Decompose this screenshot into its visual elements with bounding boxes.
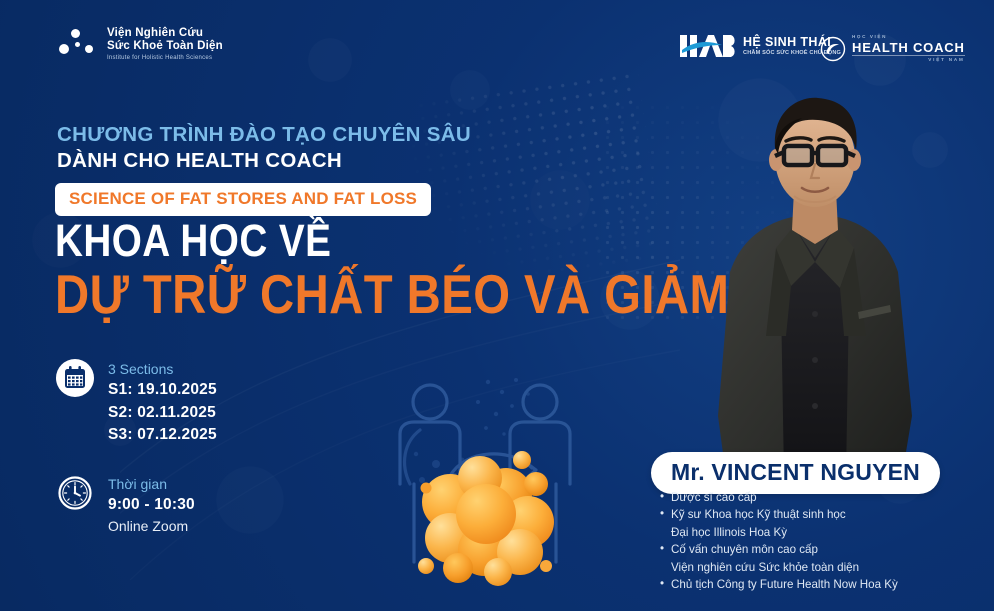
event-details: 3 Sections S1: 19.10.2025 S2: 02.11.2025… xyxy=(55,358,217,563)
kicker-line-1: CHƯƠNG TRÌNH ĐÀO TẠO CHUYÊN SÂU xyxy=(57,122,471,148)
fat-cell-cluster-graphic xyxy=(410,440,570,590)
health-coach-subtitle: VIỆT NAM xyxy=(852,55,965,62)
health-coach-pretitle: HỌC VIỆN xyxy=(852,35,965,40)
english-subtitle-badge: SCIENCE OF FAT STORES AND FAT LOSS xyxy=(55,183,431,216)
page-title: KHOA HỌC VỀ DỰ TRỮ CHẤT BÉO VÀ GIẢM MỠ xyxy=(55,219,695,322)
institute-line2: Sức Khoẻ Toàn Diện xyxy=(107,40,223,53)
health-coach-circle-icon xyxy=(820,36,846,62)
list-item: Dược sĩ cao cấp xyxy=(660,489,960,506)
credentials-list: Dược sĩ cao cấp Kỹ sư Khoa học Kỹ thuật … xyxy=(660,489,960,593)
list-item: Chủ tịch Công ty Future Health Now Hoa K… xyxy=(660,576,960,593)
list-item: Cố vấn chuyên môn cao cấp xyxy=(660,541,960,558)
badge-label: SCIENCE OF FAT STORES AND FAT LOSS xyxy=(69,189,417,208)
speaker-name: Mr. VINCENT NGUYEN xyxy=(671,459,920,485)
list-item: Đại học Illinois Hoa Kỳ xyxy=(660,524,960,541)
institute-line3: Institute for Holistic Health Sciences xyxy=(107,55,223,62)
four-dots-mark-icon xyxy=(58,27,98,61)
calendar-icon xyxy=(55,358,95,398)
hab-wordmark-icon xyxy=(678,33,736,59)
logo-health-coach[interactable]: HỌC VIỆN HEALTH COACH VIỆT NAM xyxy=(820,35,965,62)
title-line-1: KHOA HỌC VỀ xyxy=(55,219,605,262)
poster-canvas: Viện Nghiên Cứu Sức Khoẻ Toàn Diện Insti… xyxy=(0,0,994,611)
session-date-2: S2: 02.11.2025 xyxy=(108,402,217,424)
logo-bar: Viện Nghiên Cứu Sức Khoẻ Toàn Diện Insti… xyxy=(0,0,994,90)
title-line-2: DỰ TRỮ CHẤT BÉO VÀ GIẢM MỠ xyxy=(55,268,605,322)
time-platform: Online Zoom xyxy=(108,516,195,536)
speaker-credentials: Dược sĩ cao cấp Kỹ sư Khoa học Kỹ thuật … xyxy=(660,489,960,593)
health-coach-title: HEALTH COACH xyxy=(852,41,965,54)
time-label: Thời gian xyxy=(108,474,195,494)
logo-hab[interactable]: HỆ SINH THÁI CHĂM SÓC SỨC KHOẺ CHỦ ĐỘNG xyxy=(678,33,841,59)
detail-sections: 3 Sections S1: 19.10.2025 S2: 02.11.2025… xyxy=(55,358,217,447)
detail-time: Thời gian 9:00 - 10:30 Online Zoom xyxy=(55,473,217,537)
program-kicker: CHƯƠNG TRÌNH ĐÀO TẠO CHUYÊN SÂU DÀNH CHO… xyxy=(57,122,471,173)
session-date-1: S1: 19.10.2025 xyxy=(108,379,217,401)
sections-label: 3 Sections xyxy=(108,359,217,379)
kicker-line-2: DÀNH CHO HEALTH COACH xyxy=(57,148,471,174)
logo-institute[interactable]: Viện Nghiên Cứu Sức Khoẻ Toàn Diện Insti… xyxy=(58,27,223,61)
list-item: Kỹ sư Khoa học Kỹ thuật sinh học xyxy=(660,506,960,523)
clock-icon xyxy=(55,473,95,513)
speaker-name-badge: Mr. VINCENT NGUYEN xyxy=(651,452,940,494)
time-value: 9:00 - 10:30 xyxy=(108,494,195,516)
list-item: Viện nghiên cứu Sức khỏe toàn diện xyxy=(660,559,960,576)
speaker-portrait xyxy=(690,86,940,476)
institute-line1: Viện Nghiên Cứu xyxy=(107,27,223,40)
session-date-3: S3: 07.12.2025 xyxy=(108,424,217,446)
